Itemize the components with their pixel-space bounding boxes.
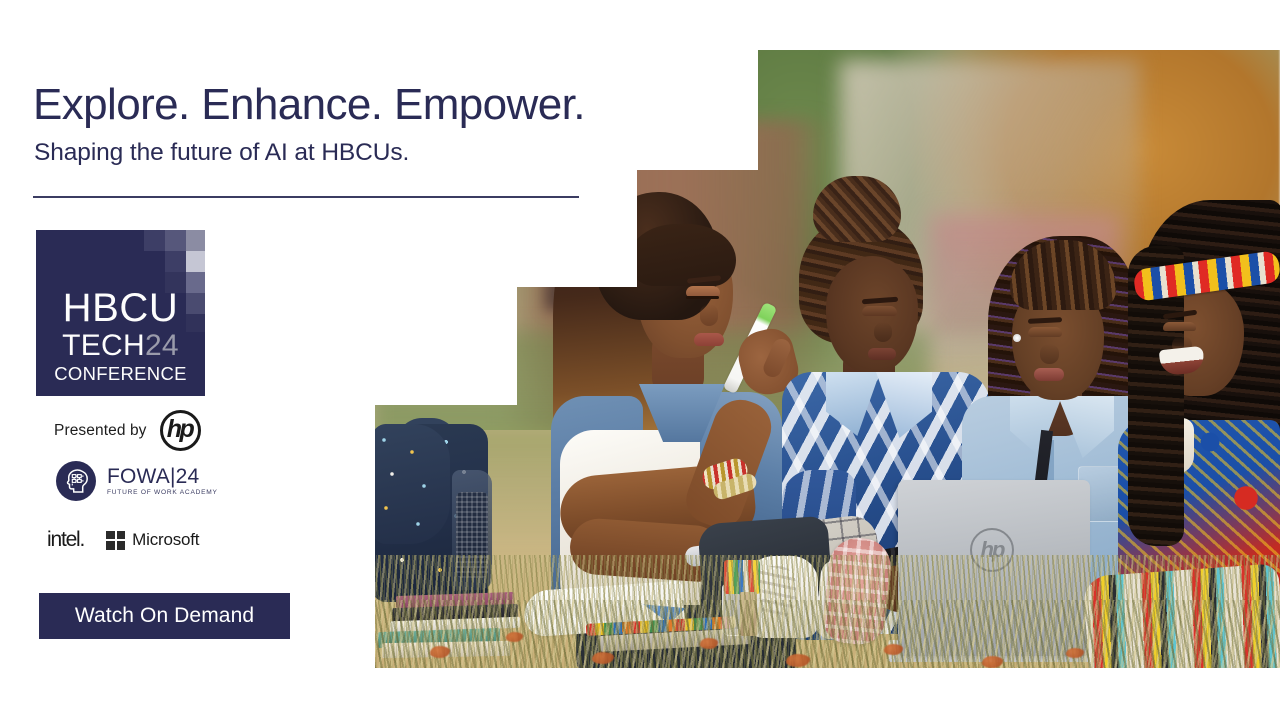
presented-by-label: Presented by <box>54 422 147 440</box>
student-3-earring <box>1013 334 1021 342</box>
logo-line-conference: CONFERENCE <box>36 362 205 386</box>
logo-line-hbcu: HBCU <box>36 288 205 329</box>
fowa-text-block: FOWA|24 FUTURE OF WORK ACADEMY <box>107 466 218 497</box>
student-3-nose <box>1040 344 1059 364</box>
backpack-front-flap <box>372 424 450 544</box>
hbcu-tech-conference-logo: HBCU TECH24 CONFERENCE <box>36 230 205 396</box>
fowa-tagline: FUTURE OF WORK ACADEMY <box>107 490 218 497</box>
logo-line-tech24: TECH24 <box>36 329 205 362</box>
ms-square <box>106 531 114 539</box>
divider <box>33 196 579 198</box>
microsoft-wordmark: Microsoft <box>132 530 199 550</box>
watch-on-demand-button[interactable]: Watch On Demand <box>39 593 290 639</box>
fowa-academy-logo: FOWA|24 FUTURE OF WORK ACADEMY <box>56 461 218 501</box>
logo-text-block: HBCU TECH24 CONFERENCE <box>36 288 205 386</box>
hero-banner: hp <box>0 0 1280 720</box>
hp-wordmark: hp <box>163 413 197 447</box>
logo-pixel <box>165 251 186 272</box>
student-2-eye <box>862 306 897 316</box>
logo-pixel <box>186 251 205 272</box>
page-subtitle: Shaping the future of AI at HBCUs. <box>34 137 409 169</box>
hp-circle-logo-icon: hp <box>160 410 201 451</box>
head-brain-circuit-icon <box>56 461 96 501</box>
student-3-lips <box>1034 368 1064 381</box>
student-4-eye <box>1163 322 1196 331</box>
ms-square <box>117 531 125 539</box>
partner-logos-row: intel. Microsoft <box>47 528 199 552</box>
logo-pixel <box>144 230 165 251</box>
student-3-eye <box>1028 327 1062 337</box>
student-1-eyelash <box>686 296 719 299</box>
logo-tech: TECH <box>62 329 145 362</box>
ms-square <box>117 541 125 549</box>
intel-wordmark: intel. <box>47 528 84 552</box>
student-2-lips <box>868 348 896 360</box>
ms-square <box>106 541 114 549</box>
microsoft-logo: Microsoft <box>106 530 199 550</box>
logo-pixel <box>165 230 186 251</box>
logo-year: 24 <box>145 329 179 362</box>
page-title: Explore. Enhance. Empower. <box>33 79 585 131</box>
student-2-top-knot <box>813 176 901 242</box>
student-1-nose <box>700 304 718 326</box>
logo-pixel <box>186 230 205 251</box>
student-1-lips <box>694 333 724 346</box>
student-2-nose <box>874 322 892 342</box>
presented-by-row: Presented by hp <box>54 410 201 451</box>
fowa-name: FOWA|24 <box>107 466 218 487</box>
microsoft-four-squares-icon <box>106 531 125 550</box>
grass-texture-front <box>360 600 1280 670</box>
